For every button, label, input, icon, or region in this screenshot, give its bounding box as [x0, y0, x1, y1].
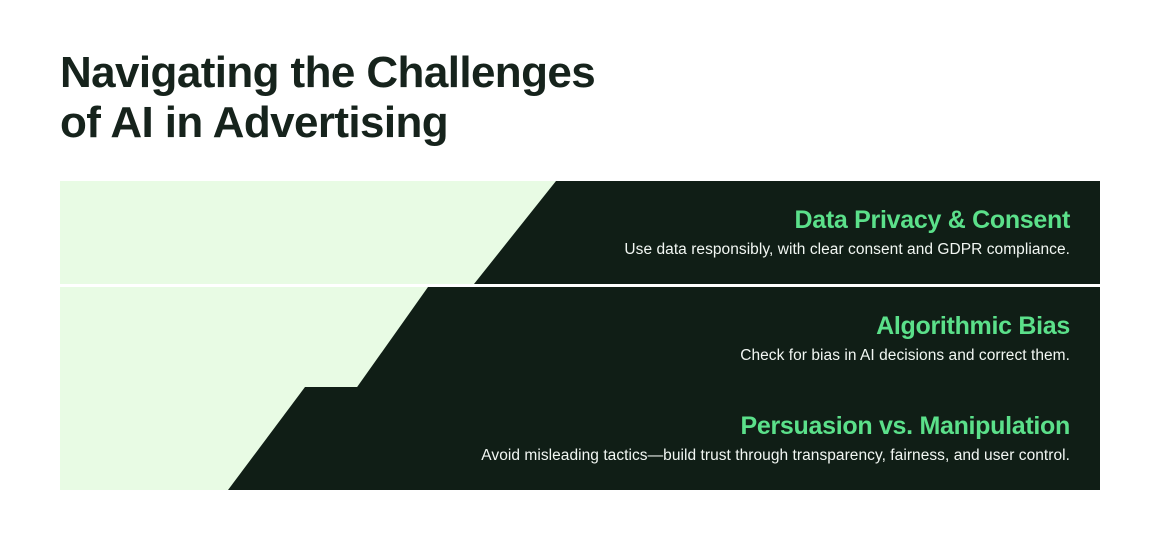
band-heading: Algorithmic Bias — [876, 311, 1070, 341]
band-text-group: Algorithmic Bias Check for bias in AI de… — [740, 287, 1070, 390]
band-description: Check for bias in AI decisions and corre… — [740, 346, 1070, 366]
band-description: Avoid misleading tactics—build trust thr… — [481, 446, 1070, 466]
band-list: Data Privacy & Consent Use data responsi… — [60, 181, 1100, 490]
infographic-container: Navigating the Challenges of AI in Adver… — [0, 0, 1161, 552]
page-title: Navigating the Challenges of AI in Adver… — [60, 48, 760, 148]
band-description: Use data responsibly, with clear consent… — [624, 240, 1070, 260]
band-row-persuasion-vs-manipulation: Persuasion vs. Manipulation Avoid mislea… — [60, 387, 1100, 490]
band-text-group: Data Privacy & Consent Use data responsi… — [624, 181, 1070, 284]
band-row-data-privacy: Data Privacy & Consent Use data responsi… — [60, 181, 1100, 284]
band-row-algorithmic-bias: Algorithmic Bias Check for bias in AI de… — [60, 287, 1100, 390]
band-heading: Persuasion vs. Manipulation — [741, 411, 1070, 441]
band-heading: Data Privacy & Consent — [795, 205, 1070, 235]
band-text-group: Persuasion vs. Manipulation Avoid mislea… — [481, 387, 1070, 490]
